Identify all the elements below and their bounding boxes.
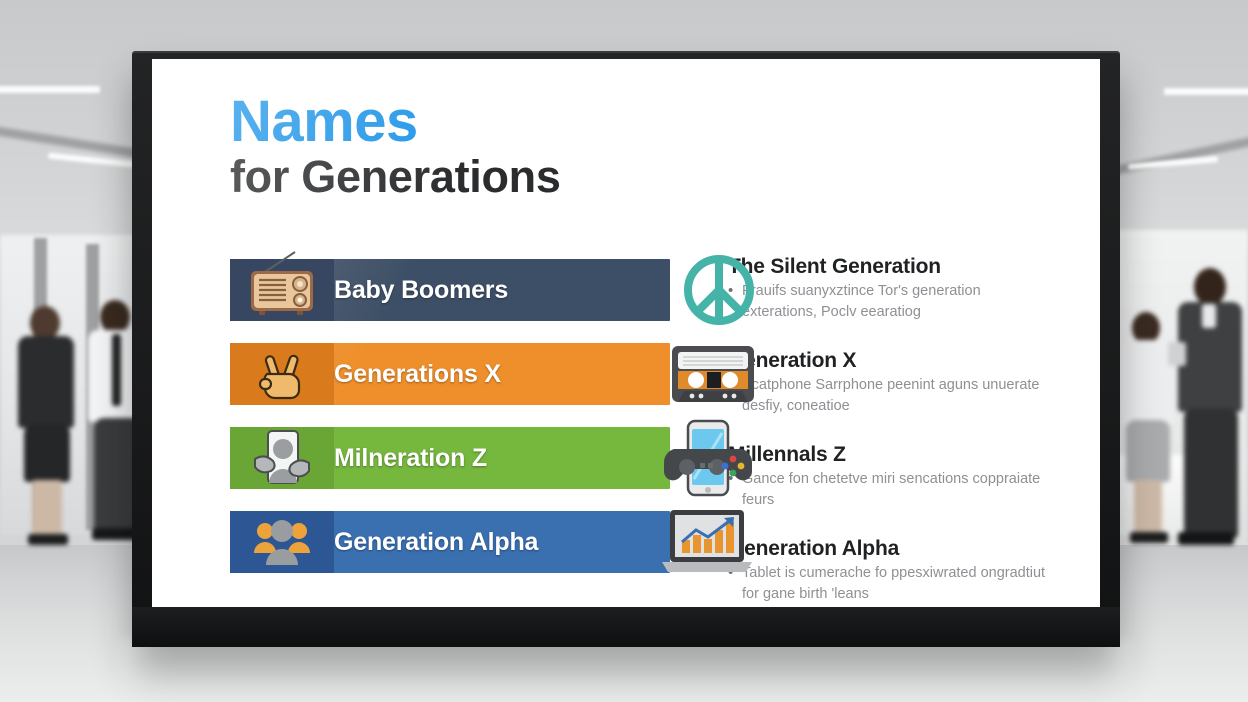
bar-label: Milneration Z [334,444,487,473]
presentation-slide: Names for Generations [152,59,1100,607]
shoes [28,534,68,545]
head [1194,268,1226,306]
floor-reflection [120,640,1130,702]
ceiling-light-3 [1164,88,1248,95]
blouse [1120,340,1174,424]
title-line-2: for Generations [230,153,561,200]
shirt-collar [1202,304,1216,328]
legs [1134,480,1162,536]
shoes [1178,532,1234,545]
office-scene: Names for Generations [0,0,1248,702]
group-of-people-icon [230,511,334,573]
generation-bar-milneration-z[interactable]: Milneration Z [230,427,680,489]
vintage-radio-icon [230,259,334,321]
entry-silent-generation: The Silent Generation Frauifs suanyxztin… [728,255,1058,322]
smartphone-gamepad-icon [660,419,756,497]
entry-bullets: Gance fon chetetve miri sencations coppr… [728,469,1058,510]
entry-heading: The Silent Generation [728,255,1058,279]
generation-bar-baby-boomers[interactable]: Baby Boomers [230,259,680,321]
skirt [1126,420,1170,482]
page-title: Names for Generations [230,92,561,200]
list-item: Bcatphone Sarrphone peenint aguns unuera… [728,375,1058,416]
phone-in-hand [1168,342,1186,366]
entry-generation-x: Generation X Bcatphone Sarrphone peenint… [728,349,1058,416]
entry-bullets: Bcatphone Sarrphone peenint aguns unuera… [728,375,1058,416]
display-bottom-bezel [132,607,1120,647]
list-item: Frauifs suanyxztince Tor's generation ex… [728,281,1058,322]
list-item: Tablet is cumerache fo ppesxiwrated ongr… [728,563,1058,604]
legs [32,480,62,538]
entry-heading: Generation Alpha [728,537,1058,561]
torso [18,336,74,428]
generation-bar-generation-alpha[interactable]: Generation Alpha [230,511,680,573]
cassette-tape-icon [670,344,756,404]
person-woman-left [8,306,86,546]
tie [112,334,121,406]
shoes [1130,532,1168,543]
generation-bar-list: Baby Boomers [230,259,680,595]
victory-hand-icon [230,343,334,405]
person-man-right [1172,268,1248,568]
peace-symbol-icon [682,253,756,327]
generation-description-list: The Silent Generation Frauifs suanyxztin… [728,255,1058,607]
entry-heading: Generation X [728,349,1058,373]
skirt [24,424,70,482]
head [30,306,60,340]
entry-bullets: Frauifs suanyxztince Tor's generation ex… [728,281,1058,322]
entry-millennals-z: Millennals Z Gance fon chetetve miri sen… [728,443,1058,510]
entry-heading: Millennals Z [728,443,1058,467]
entry-bullets: Tablet is cumerache fo ppesxiwrated ongr… [728,563,1058,604]
laptop-growth-chart-icon [658,506,756,578]
title-line-1: Names [230,92,561,151]
ceiling-light-1 [0,86,100,93]
trousers [1184,408,1238,538]
list-item: Gance fon chetetve miri sencations coppr… [728,469,1058,510]
bar-label: Generations X [334,360,501,389]
bar-label: Baby Boomers [334,276,508,305]
entry-generation-alpha: Generation Alpha Tablet is cumerache fo … [728,537,1058,604]
selfie-hands-phone-icon [230,427,334,489]
generation-bar-generations-x[interactable]: Generations X [230,343,680,405]
head [100,300,130,334]
bar-label: Generation Alpha [334,528,538,557]
